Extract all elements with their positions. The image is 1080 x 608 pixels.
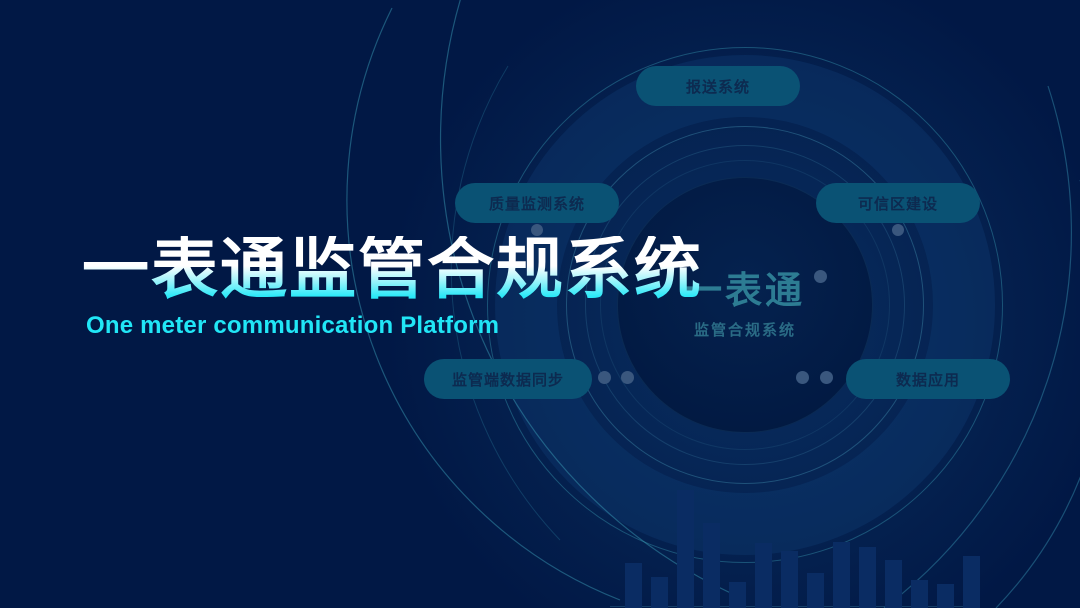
chart-bar bbox=[651, 577, 668, 608]
page-title: 一表通监管合规系统 bbox=[82, 236, 703, 304]
hub-center-title: 一表通 bbox=[685, 272, 805, 309]
node-pill-report[interactable]: 报送系统 bbox=[636, 66, 800, 106]
connector-dot bbox=[814, 270, 827, 283]
chart-bar bbox=[625, 563, 642, 608]
page-subtitle: One meter communication Platform bbox=[86, 312, 703, 340]
connector-dot bbox=[892, 224, 904, 236]
chart-bar bbox=[859, 547, 876, 608]
chart-baseline bbox=[610, 606, 970, 607]
headline-block: 一表通监管合规系统 One meter communication Platfo… bbox=[82, 236, 703, 340]
chart-bar bbox=[911, 580, 928, 608]
node-pill-quality[interactable]: 质量监测系统 bbox=[455, 183, 619, 223]
chart-bar bbox=[755, 543, 772, 608]
chart-bar bbox=[703, 523, 720, 608]
node-pill-trusted[interactable]: 可信区建设 bbox=[816, 183, 980, 223]
chart-bar bbox=[807, 573, 824, 608]
slide-canvas: 报送系统 质量监测系统 可信区建设 监管端数据同步 数据应用 一表通 监管合规系… bbox=[0, 0, 1080, 608]
node-pill-sync[interactable]: 监管端数据同步 bbox=[424, 359, 592, 399]
connector-dot bbox=[820, 371, 833, 384]
chart-bar bbox=[781, 551, 798, 608]
chart-bar bbox=[963, 556, 980, 608]
chart-bar bbox=[885, 560, 902, 608]
connector-dot bbox=[621, 371, 634, 384]
chart-bar bbox=[937, 584, 954, 608]
chart-bar bbox=[729, 582, 746, 608]
chart-bar bbox=[833, 542, 850, 608]
decorative-bar-chart bbox=[625, 488, 980, 608]
connector-dot bbox=[598, 371, 611, 384]
connector-dot bbox=[796, 371, 809, 384]
node-pill-dataapp[interactable]: 数据应用 bbox=[846, 359, 1010, 399]
chart-bar bbox=[677, 490, 694, 608]
hub-center-subtitle: 监管合规系统 bbox=[694, 323, 796, 338]
